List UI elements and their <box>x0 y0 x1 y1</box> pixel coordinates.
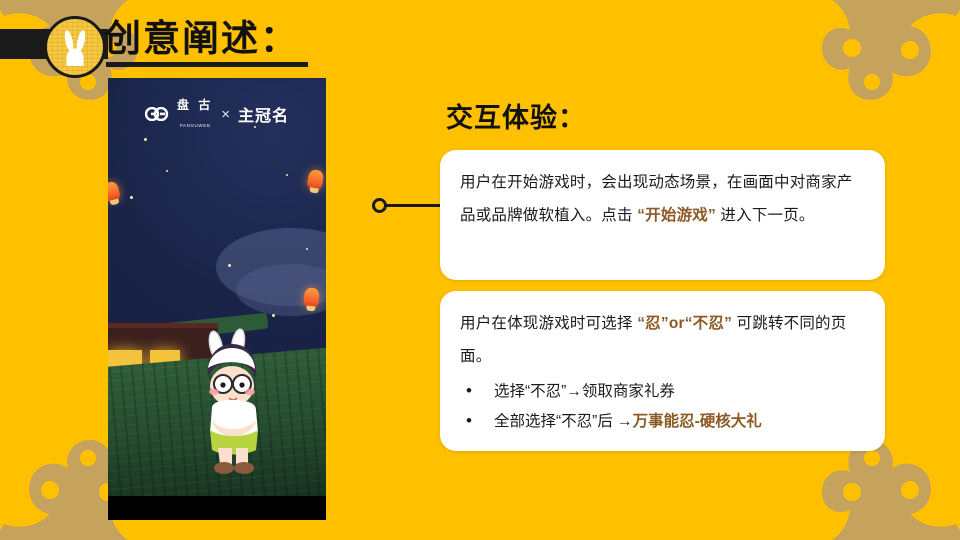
page-title: 创意阐述： <box>104 17 299 61</box>
sky-lantern-icon <box>303 287 320 307</box>
card1-highlight: “开始游戏” <box>637 207 716 224</box>
interaction-card-2: 用户在体现游戏时可选择 “忍”or“不忍” 可跳转不同的页面。 选择“不忍”→领… <box>440 291 885 451</box>
star <box>286 174 288 176</box>
pangu-logo-icon <box>145 107 169 121</box>
connector-dot <box>372 198 387 213</box>
star <box>228 264 231 267</box>
list-item: 全部选择“不忍”后 →万事能忍-硬核大礼 <box>460 407 865 437</box>
star <box>130 196 133 199</box>
cloud-decoration-icon <box>820 0 960 144</box>
card1-paragraph: 用户在开始游戏时，会出现动态场景，在画面中对商家产品或品牌做软植入。点击 “开始… <box>460 166 865 232</box>
bullet-text: 全部选择“不忍”后 → <box>494 413 633 430</box>
card2-highlight-1: “忍”or“不忍” <box>637 315 732 332</box>
section-heading: 交互体验： <box>446 96 586 135</box>
app-mockup-image: 盘 古 PANGUWEB × 主冠名 <box>108 78 326 520</box>
rabbit-hood-character-illustration <box>186 328 282 478</box>
pangu-logo-cn: 盘 古 <box>177 98 213 112</box>
bottom-letterbox <box>108 496 326 520</box>
rabbit-badge <box>44 16 106 78</box>
bullet-highlight: 万事能忍-硬核大礼 <box>633 413 762 430</box>
bullet-text: 选择“不忍”→领取商家礼券 <box>494 383 675 400</box>
card2-paragraph: 用户在体现游戏时可选择 “忍”or“不忍” 可跳转不同的页面。 <box>460 307 865 373</box>
star <box>166 170 168 172</box>
sponsor-brand-label: 主冠名 <box>238 102 289 126</box>
star <box>306 248 308 250</box>
star <box>272 314 275 317</box>
card2-text-part1: 用户在体现游戏时可选择 <box>460 315 637 332</box>
logo-separator-icon: × <box>221 106 230 123</box>
connector-line <box>382 204 444 207</box>
slide-canvas: 创意阐述： <box>0 0 960 540</box>
star <box>144 138 147 141</box>
interaction-card-1: 用户在开始游戏时，会出现动态场景，在画面中对商家产品或品牌做软植入。点击 “开始… <box>440 150 885 280</box>
brand-logo-row: 盘 古 PANGUWEB × 主冠名 <box>108 96 326 132</box>
list-item: 选择“不忍”→领取商家礼券 <box>460 377 865 407</box>
title-underline <box>106 62 308 67</box>
card2-bullet-list: 选择“不忍”→领取商家礼券 全部选择“不忍”后 →万事能忍-硬核大礼 <box>460 377 865 437</box>
card1-text-part2: 进入下一页。 <box>716 207 815 224</box>
pangu-logo-en: PANGUWEB <box>180 123 211 128</box>
rabbit-icon <box>60 30 90 66</box>
